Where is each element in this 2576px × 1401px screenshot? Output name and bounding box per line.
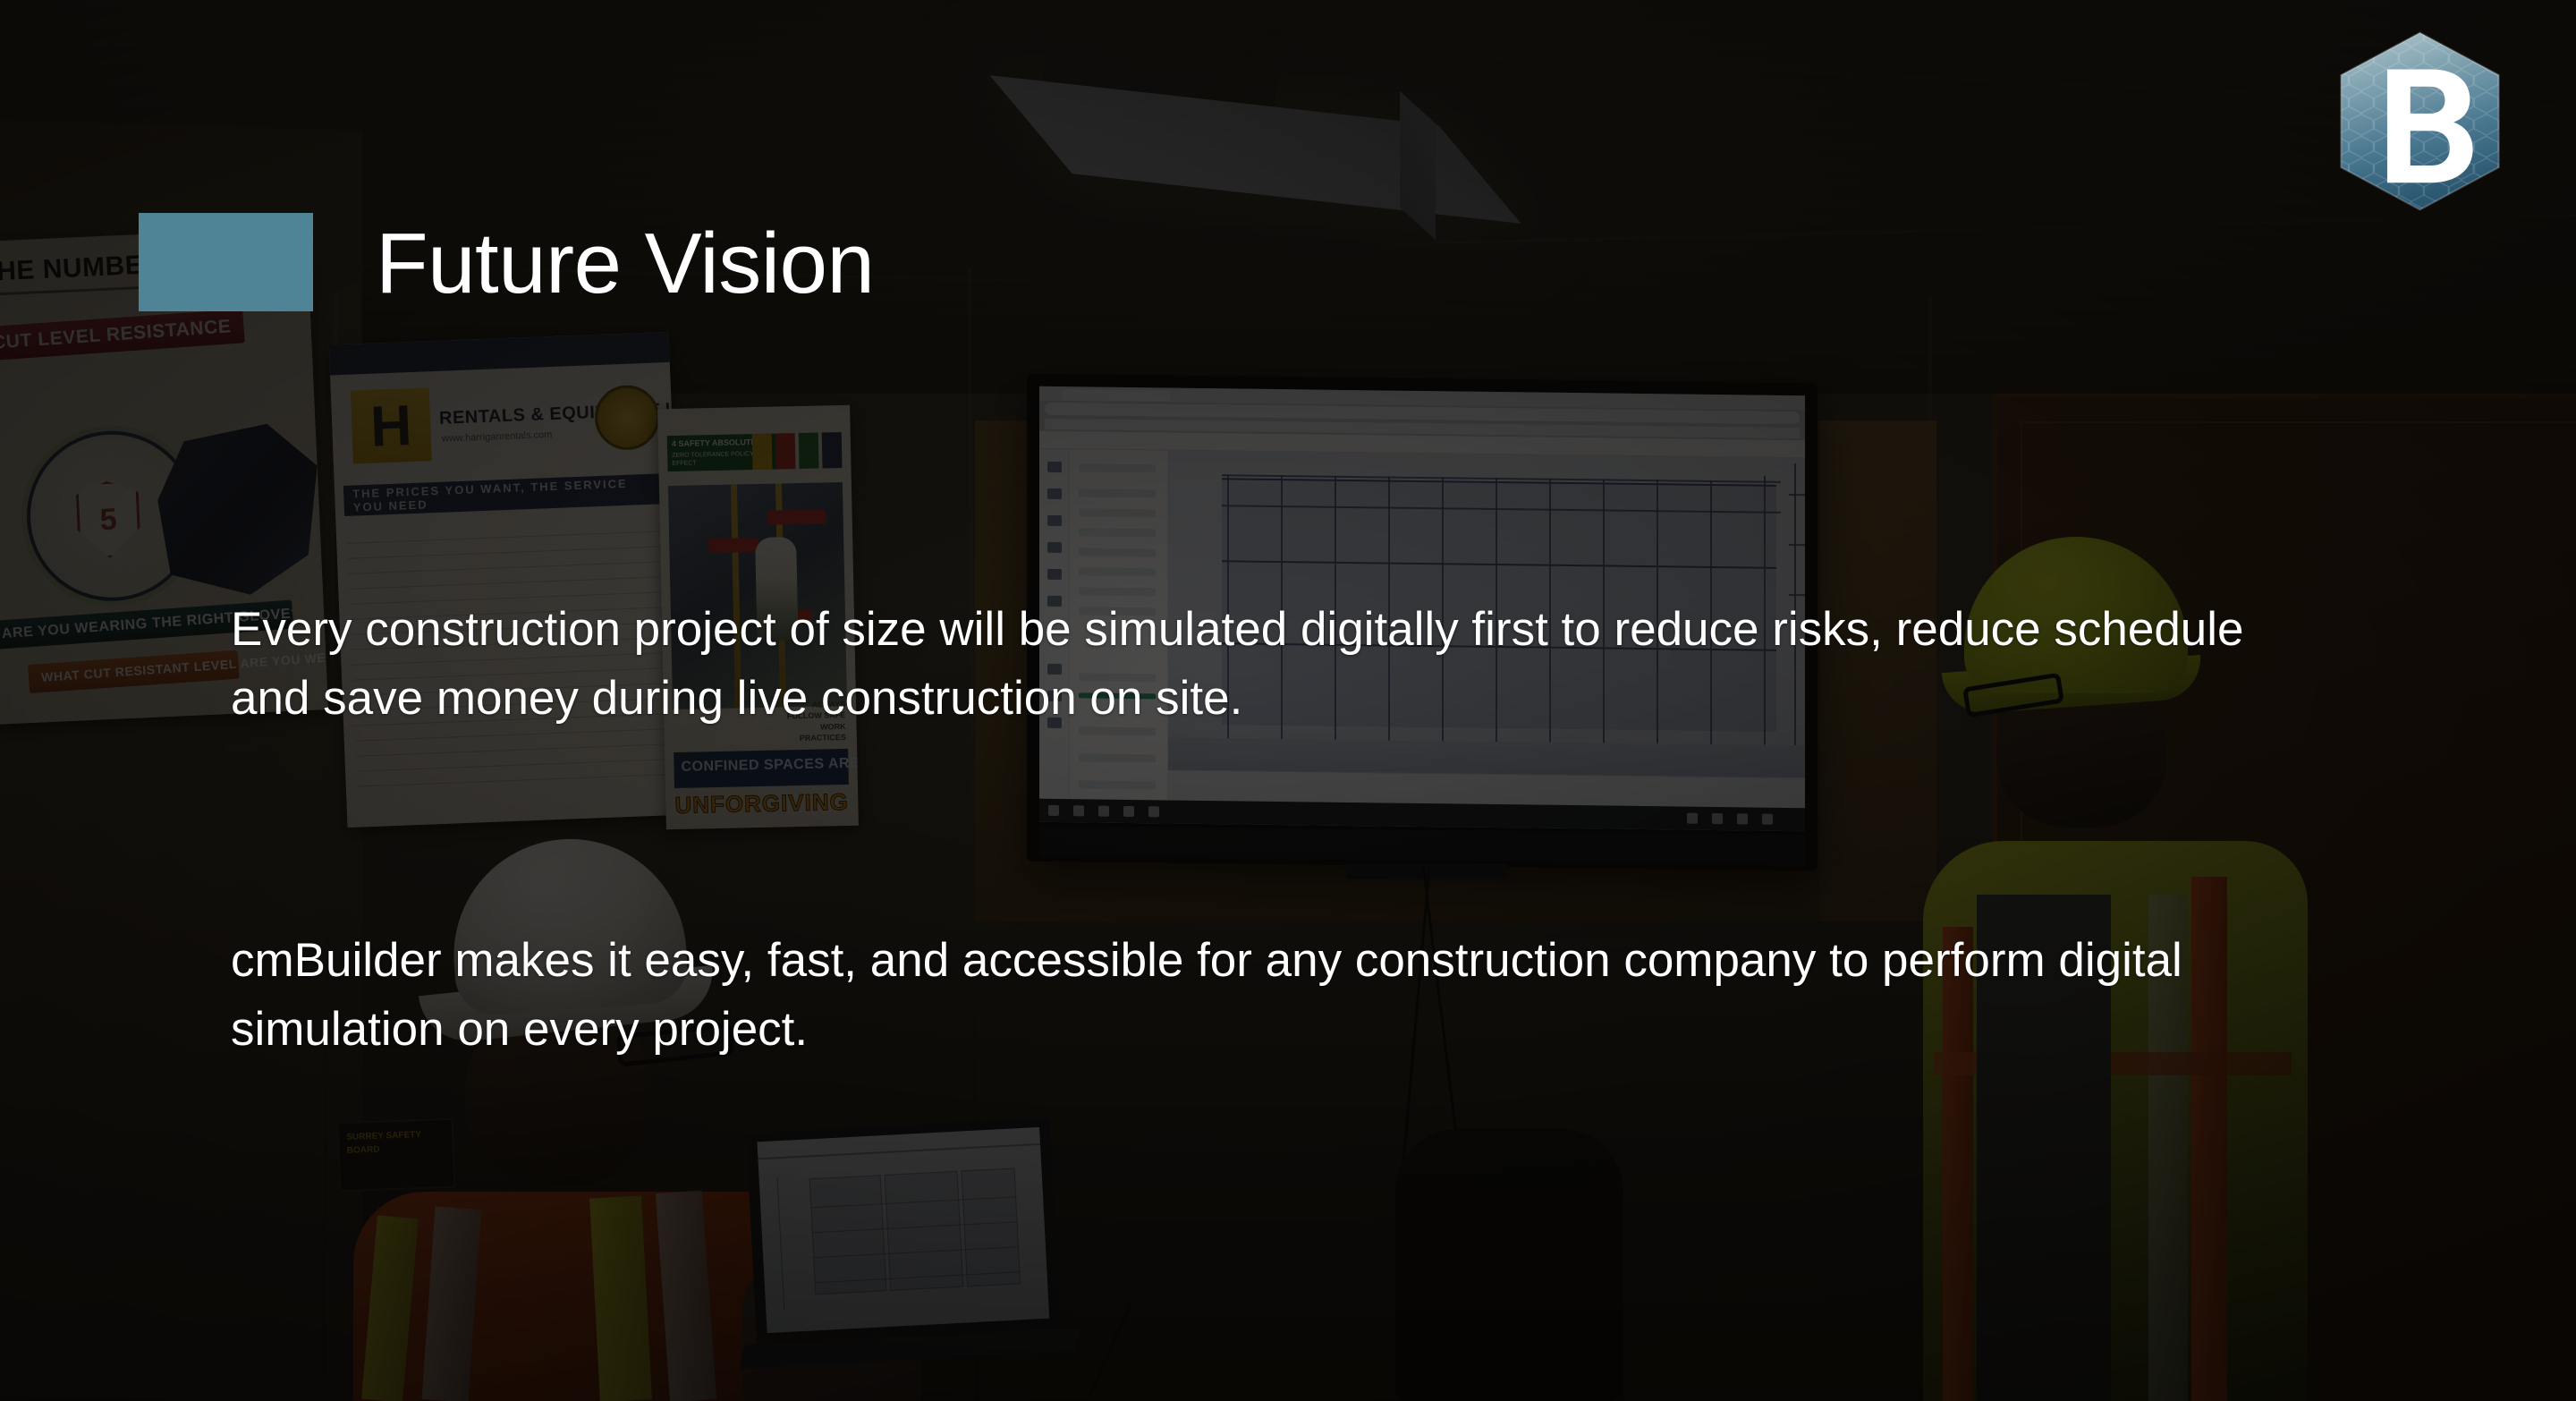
page-title: Future Vision [376, 215, 874, 313]
body-paragraph-2: cmBuilder makes it easy, fast, and acces… [231, 926, 2377, 1064]
slide-content: Future Vision Every construction project… [0, 0, 2576, 1401]
body-paragraph-1: Every construction project of size will … [231, 595, 2288, 733]
accent-square [139, 213, 313, 311]
cmbuilder-logo [2324, 25, 2516, 217]
logo-letter-b [2387, 69, 2473, 183]
presentation-slide: THE NUMBER MATTERS CUT LEVEL RESISTANCE … [0, 0, 2576, 1401]
